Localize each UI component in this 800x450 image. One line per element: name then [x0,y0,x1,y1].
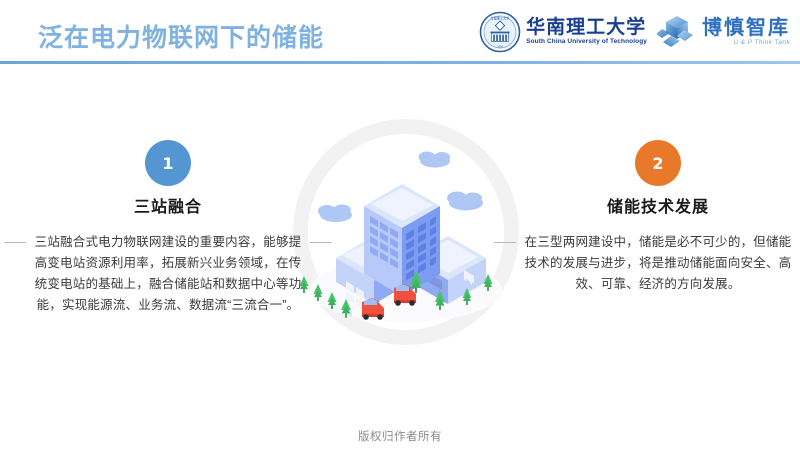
copyright-note: 版权归作者所有 [0,428,800,444]
content-block-1: 1 三站融合 三站融合式电力物联网建设的重要内容，能够提高变电站资源利用率，拓展… [28,140,308,316]
block-heading-2: 储能技术发展 [518,198,798,218]
center-tower-shape [364,184,440,296]
logo-area: 华南理工大学 1934 华南理工大学 South China Universit… [479,7,790,57]
scut-seal-icon: 华南理工大学 1934 [479,11,521,53]
university-name-en: South China University of Technology [526,39,647,46]
think-tank-name-en: U & P Think Tank [734,40,791,47]
svg-text:华南理工大学: 华南理工大学 [491,15,510,20]
block-heading-1: 三站融合 [28,198,308,218]
block-body-1: 三站融合式电力物联网建设的重要内容，能够提高变电站资源利用率，拓展新兴业务领域，… [28,232,308,316]
header-divider [0,61,800,64]
think-tank-name-block: 博慎智库 U & P Think Tank [702,18,790,47]
decorative-dash-left [4,242,26,243]
decorative-dash-left [494,242,516,243]
decorative-dash-right [310,242,332,243]
block-body-text-1: 三站融合式电力物联网建设的重要内容，能够提高变电站资源利用率，拓展新兴业务领域，… [35,235,302,312]
block-body-2: 在三型两网建设中，储能是必不可少的，但储能技术的发展与进步，将是推动储能面向安全… [518,232,798,295]
university-name-block: 华南理工大学 South China University of Technol… [526,18,647,46]
isometric-city-illustration [292,118,520,346]
university-name-cn: 华南理工大学 [526,18,646,37]
block-body-text-2: 在三型两网建设中，储能是必不可少的，但储能技术的发展与进步，将是推动储能面向安全… [525,235,792,291]
university-logo: 华南理工大学 1934 华南理工大学 South China Universit… [479,11,647,53]
block-number-badge-2: 2 [635,140,681,186]
cube-cluster-icon [657,12,697,52]
think-tank-logo: 博慎智库 U & P Think Tank [657,12,790,52]
think-tank-name-cn: 博慎智库 [702,18,790,38]
page-title: 泛在电力物联网下的储能 [38,22,324,54]
content-block-2: 2 储能技术发展 在三型两网建设中，储能是必不可少的，但储能技术的发展与进步，将… [518,140,798,295]
svg-text:1934: 1934 [497,46,503,49]
block-number-badge-1: 1 [145,140,191,186]
